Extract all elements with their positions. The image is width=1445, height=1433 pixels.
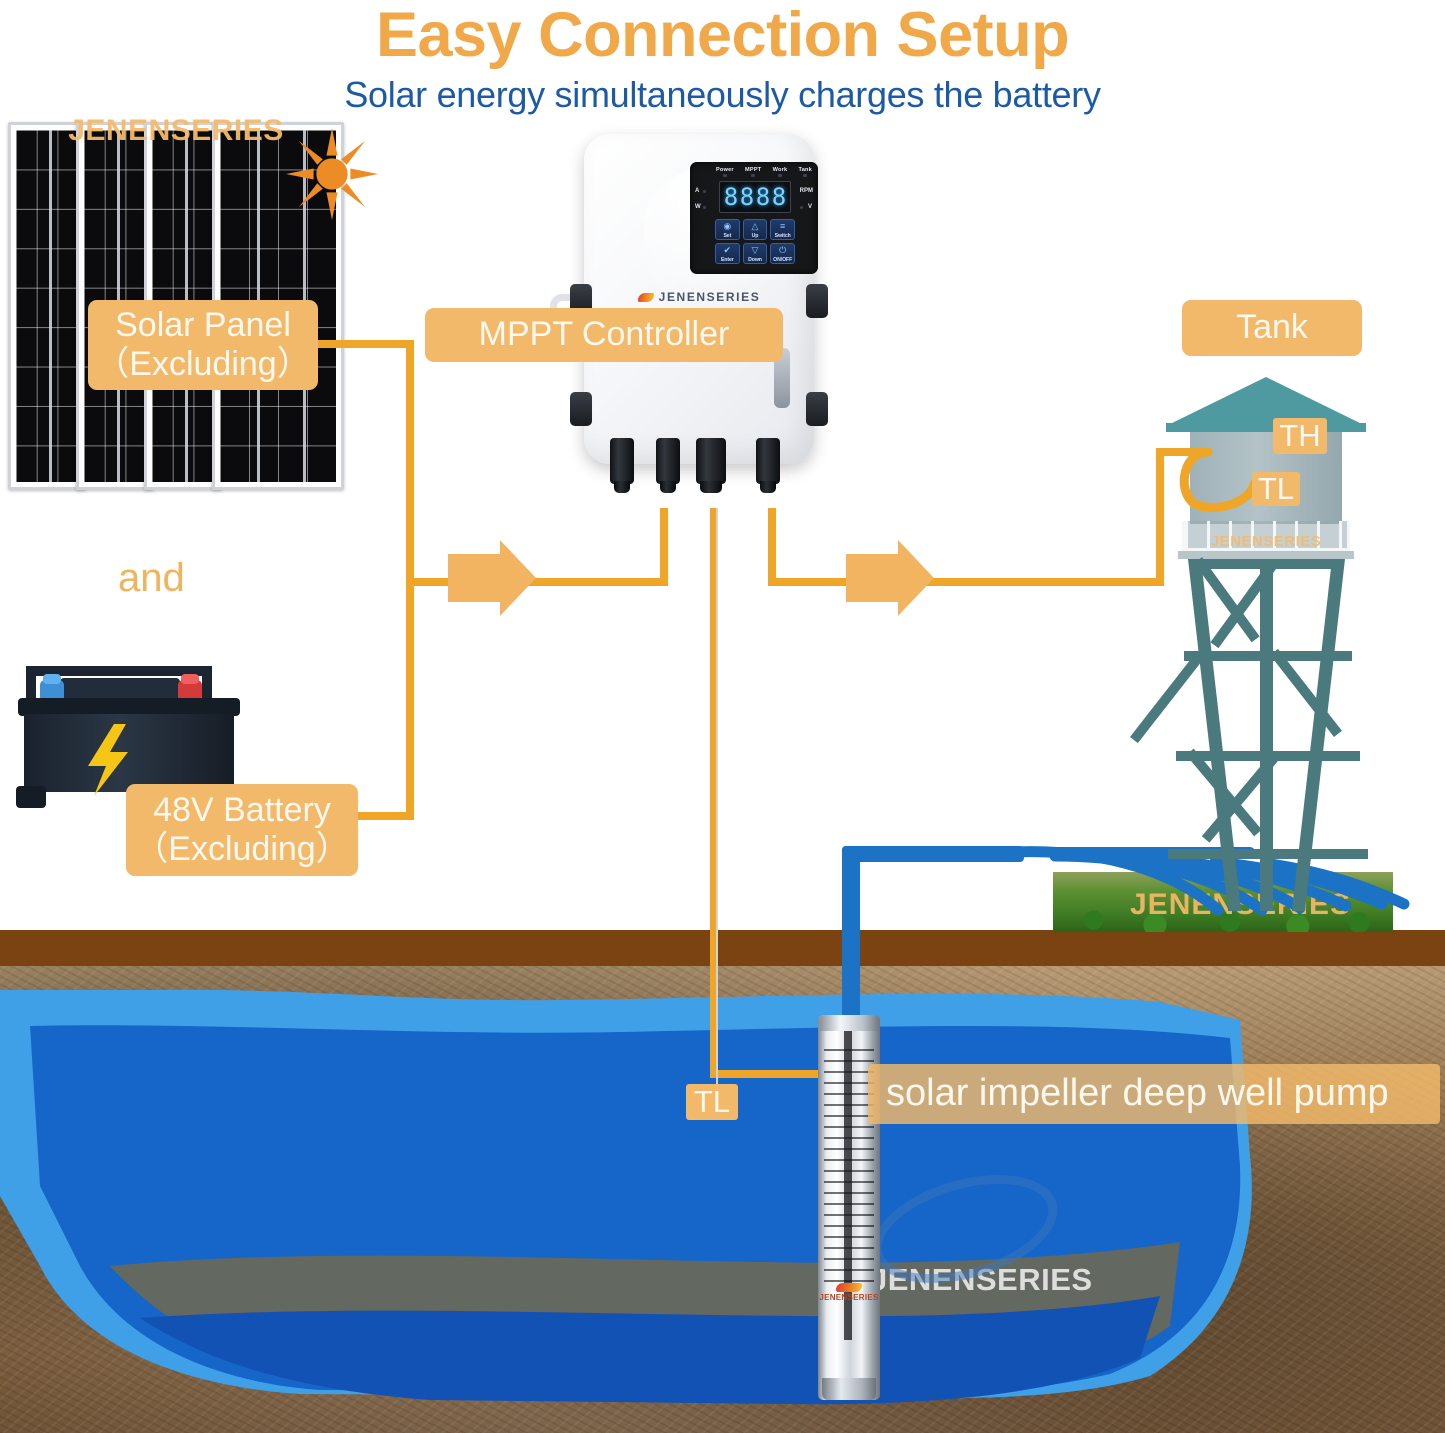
unit-label-volts: V <box>808 204 812 210</box>
pipe-horizontal <box>842 846 1024 862</box>
keypad: ◉ Set △ Up ≡ Switch ✔ Enter <box>715 219 795 264</box>
label-well-low: TL <box>686 1084 738 1120</box>
pipe-riser <box>842 846 860 1028</box>
tank-eave <box>1166 423 1366 432</box>
wire-controller-input-riser <box>660 508 668 586</box>
page-subtitle: Solar energy simultaneously charges the … <box>0 74 1445 116</box>
pump-brand-text: JENENSERIES <box>819 1293 878 1302</box>
and-label: and <box>118 556 185 601</box>
water-drop-icon <box>586 1094 632 1164</box>
tank-roof <box>1168 377 1364 425</box>
wire-tank-drop <box>768 508 776 578</box>
indicator-mppt: MPPT <box>745 167 761 177</box>
key-label: Switch <box>771 233 794 239</box>
lcd-digit: 8 <box>724 185 738 209</box>
label-solar-panel: Solar Panel （Excluding） <box>88 300 318 390</box>
label-pump: solar impeller deep well pump <box>868 1064 1440 1124</box>
unit-label-watts: W <box>695 204 701 210</box>
cable-gland-1 <box>610 438 634 484</box>
indicator-led <box>803 174 807 177</box>
water-watermark: JENENSERIES <box>870 1180 1093 1298</box>
controller-brand: JENENSERIES <box>584 290 814 304</box>
status-indicator-row: Power MPPT Work Tank <box>716 167 812 177</box>
wire-pump-run <box>710 1070 818 1078</box>
tower-brace <box>1130 655 1202 743</box>
wire-tank-riser <box>1156 448 1164 586</box>
down-button[interactable]: ▽ Down <box>743 243 768 264</box>
housing-side-tab-left-lower <box>570 392 592 426</box>
infographic-canvas: Easy Connection Setup Solar energy simul… <box>0 0 1445 1433</box>
indicator-tank: Tank <box>799 167 812 177</box>
topsoil-band <box>0 930 1445 966</box>
triangle-up-icon: △ <box>752 222 759 231</box>
key-label: Set <box>716 233 739 239</box>
flame-logo-icon <box>836 1283 862 1292</box>
underground-section <box>0 966 1445 1433</box>
wire-sensor-thin <box>716 508 718 1088</box>
unit-label-rpm: RPM <box>800 188 813 194</box>
triangle-down-icon: ▽ <box>752 246 759 255</box>
key-label: Enter <box>716 257 739 263</box>
brand-text: JENENSERIES <box>659 290 761 304</box>
label-tank-low: TL <box>1252 472 1300 506</box>
indicator-led <box>778 174 782 177</box>
key-label: Up <box>744 233 767 239</box>
water-tower: JENENSERIES <box>1150 355 1380 915</box>
check-icon: ✔ <box>724 246 732 255</box>
cable-gland-3 <box>696 438 726 484</box>
wire-solar-vertical <box>406 340 414 578</box>
set-icon: ◉ <box>723 222 731 231</box>
indicator-label: Power <box>716 167 734 173</box>
controller-housing: Power MPPT Work Tank <box>584 134 814 464</box>
cable-gland-4 <box>756 438 780 484</box>
housing-side-tab-right-lower <box>806 392 828 426</box>
sun-icon <box>286 128 378 220</box>
soil-texture <box>0 966 1445 1433</box>
key-label: ON/OFF <box>771 257 794 263</box>
pv-cells <box>16 130 78 482</box>
label-battery: 48V Battery （Excluding） <box>126 784 358 876</box>
tank-deck <box>1178 551 1354 559</box>
power-button[interactable]: ⏻ ON/OFF <box>770 243 795 264</box>
switch-button[interactable]: ≡ Switch <box>770 219 795 240</box>
indicator-label: Work <box>773 167 788 173</box>
water-drop-icon <box>438 1098 484 1168</box>
label-tank: Tank <box>1182 300 1362 356</box>
page-title: Easy Connection Setup <box>0 2 1445 68</box>
label-tank-high: TH <box>1273 418 1327 454</box>
power-icon: ⏻ <box>779 246 786 255</box>
indicator-led <box>751 174 755 177</box>
indicator-led <box>723 174 727 177</box>
enter-button[interactable]: ✔ Enter <box>715 243 740 264</box>
lcd-display: 8 8 8 8 <box>719 181 791 213</box>
indicator-work: Work <box>773 167 788 177</box>
wire-tank-entry <box>1156 448 1208 456</box>
indicator-power: Power <box>716 167 734 177</box>
pump-brand: JENENSERIES <box>818 1283 880 1302</box>
wire-tank-run <box>768 578 1164 586</box>
tank-watermark: JENENSERIES <box>1180 533 1352 550</box>
set-button[interactable]: ◉ Set <box>715 219 740 240</box>
wire-battery-vertical <box>406 578 414 820</box>
cable-gland-2 <box>656 438 680 484</box>
tower-rung-4 <box>1168 849 1368 859</box>
control-panel: Power MPPT Work Tank <box>690 162 818 274</box>
lcd-digit: 8 <box>772 185 786 209</box>
label-mppt-controller: MPPT Controller <box>425 308 783 362</box>
solar-panel-1 <box>8 122 86 490</box>
lcd-digit: 8 <box>740 185 754 209</box>
indicator-label: MPPT <box>745 167 761 173</box>
wire-solar-to-bus <box>318 340 414 348</box>
unit-label-amps: A <box>695 188 699 194</box>
up-button[interactable]: △ Up <box>743 219 768 240</box>
key-label: Down <box>744 257 767 263</box>
indicator-label: Tank <box>799 167 812 173</box>
flame-logo-icon <box>638 293 654 302</box>
wire-bus-to-controller <box>406 578 668 586</box>
pump-head <box>820 1015 878 1031</box>
pump-motor-base <box>822 1378 876 1400</box>
switch-icon: ≡ <box>780 222 785 231</box>
lcd-digit: 8 <box>756 185 770 209</box>
tower-rung-2 <box>1184 651 1352 661</box>
